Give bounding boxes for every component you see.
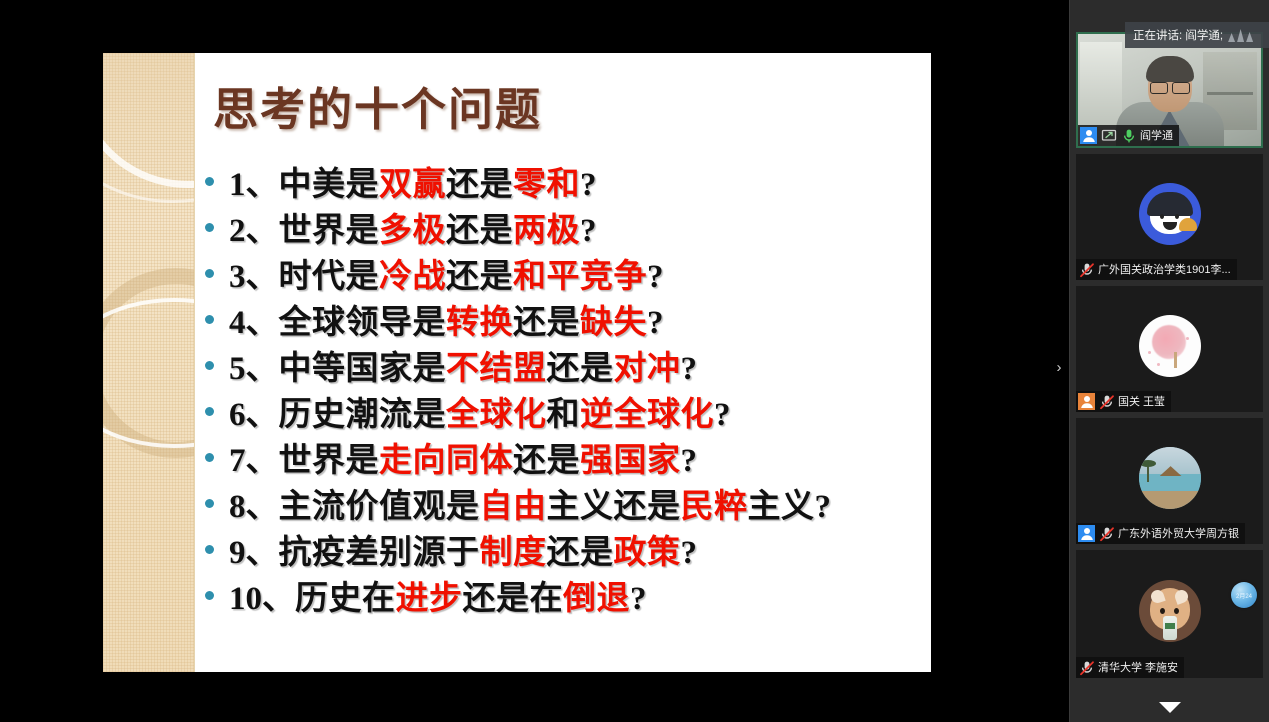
slide-bullet-number: 4、 xyxy=(229,305,279,341)
participant-tile[interactable]: 广东外语外贸大学周方银 xyxy=(1076,418,1263,544)
slide-bullet-item: 5、中等国家是不结盟还是对冲? xyxy=(205,342,927,388)
slide-text-highlight: 走向同体 xyxy=(379,443,513,479)
date-badge: 2月24 xyxy=(1231,582,1257,608)
shared-screen-stage: 思考的十个问题 1、中美是双赢还是零和?2、世界是多极还是两极?3、时代是冷战还… xyxy=(0,0,1069,722)
participant-tile[interactable]: 阎学通 xyxy=(1076,32,1263,148)
bullet-point-icon xyxy=(205,223,214,232)
slide-text-plain: 主流价值观是 xyxy=(279,489,480,525)
slide-bullet-number: 6、 xyxy=(229,397,279,433)
slide-text-highlight: 逆全球化 xyxy=(580,397,714,433)
slide-content: 思考的十个问题 1、中美是双赢还是零和?2、世界是多极还是两极?3、时代是冷战还… xyxy=(195,53,931,672)
participant-status-bar: 广东外语外贸大学周方银 xyxy=(1076,523,1245,544)
slide-text-plain: ? xyxy=(630,581,647,617)
slide-bullet-text: 2、世界是多极还是两极? xyxy=(229,203,597,251)
slide-bullet-text: 3、时代是冷战还是和平竞争? xyxy=(229,249,664,297)
slide-text-highlight: 全球化 xyxy=(446,397,547,433)
slide-text-highlight: 转换 xyxy=(446,305,513,341)
slide-text-highlight: 民粹 xyxy=(681,489,748,525)
participant-avatar xyxy=(1139,580,1201,642)
participant-status-bar: 广外国关政治学类1901李... xyxy=(1076,259,1237,280)
microphone-muted-icon xyxy=(1078,659,1095,676)
slide-text-highlight: 双赢 xyxy=(379,167,446,203)
participant-tile[interactable]: 国关 王莹 xyxy=(1076,286,1263,412)
slide-bullet-text: 7、世界是走向同体还是强国家? xyxy=(229,433,698,481)
slide-bullet-item: 10、历史在进步还是在倒退? xyxy=(205,572,927,618)
audio-level-icon xyxy=(1228,28,1253,42)
participant-avatar xyxy=(1139,183,1201,245)
slide-bullet-number: 9、 xyxy=(229,535,279,571)
slide-text-plain: 还是 xyxy=(446,259,513,295)
slide-text-plain: ? xyxy=(681,351,698,387)
slide-text-plain: 世界是 xyxy=(279,213,380,249)
avatar-icon-orange xyxy=(1078,393,1095,410)
slide-text-plain: 还是 xyxy=(547,351,614,387)
slide-bullet-text: 5、中等国家是不结盟还是对冲? xyxy=(229,341,698,389)
slide-text-highlight: 强国家 xyxy=(580,443,681,479)
slide-text-plain: 主义? xyxy=(748,489,832,525)
slide-text-plain: ? xyxy=(714,397,731,433)
collapse-video-panel-button[interactable]: › xyxy=(1050,355,1068,381)
bullet-point-icon xyxy=(205,545,214,554)
slide-text-plain: 还是 xyxy=(547,535,614,571)
slide-text-plain: 还是 xyxy=(513,305,580,341)
participant-name: 广外国关政治学类1901李... xyxy=(1098,263,1231,277)
slide-bullet-item: 1、中美是双赢还是零和? xyxy=(205,158,927,204)
slide-text-highlight: 不结盟 xyxy=(446,351,547,387)
bullet-point-icon xyxy=(205,499,214,508)
scroll-down-button[interactable] xyxy=(1070,696,1269,718)
slide-text-plain: 和 xyxy=(547,397,581,433)
slide-text-highlight: 政策 xyxy=(614,535,681,571)
slide-bullet-number: 1、 xyxy=(229,167,279,203)
avatar-hair xyxy=(1147,192,1193,216)
slide-text-plain: ? xyxy=(681,535,698,571)
slide-decorative-band xyxy=(103,53,195,672)
slide-bullet-item: 3、时代是冷战还是和平竞争? xyxy=(205,250,927,296)
slide-bullet-item: 6、历史潮流是全球化和逆全球化? xyxy=(205,388,927,434)
slide-bullet-number: 5、 xyxy=(229,351,279,387)
slide-text-plain: 主义还是 xyxy=(547,489,681,525)
glasses-icon xyxy=(1150,82,1190,92)
avatar-bottle xyxy=(1163,616,1177,640)
active-speaker-banner: 正在讲话: 阎学通; xyxy=(1125,22,1269,48)
bullet-point-icon xyxy=(205,361,214,370)
slide-bullet-text: 4、全球领导是转换还是缺失? xyxy=(229,295,664,343)
participant-status-bar: 阎学通 xyxy=(1078,125,1179,146)
participant-name: 阎学通 xyxy=(1140,129,1173,143)
slide-text-plain: ? xyxy=(647,305,664,341)
screen-share-icon xyxy=(1100,127,1117,144)
slide-bullet-text: 1、中美是双赢还是零和? xyxy=(229,157,597,205)
slide-text-plain: ? xyxy=(580,213,597,249)
slide-text-highlight: 倒退 xyxy=(563,581,630,617)
participant-name: 广东外语外贸大学周方银 xyxy=(1118,527,1239,541)
slide-bullet-text: 8、主流价值观是自由主义还是民粹主义? xyxy=(229,479,832,527)
slide-bullet-number: 7、 xyxy=(229,443,279,479)
bullet-point-icon xyxy=(205,407,214,416)
slide-bullet-number: 2、 xyxy=(229,213,279,249)
avatar-sandwich xyxy=(1179,218,1197,231)
slide-bullet-number: 10、 xyxy=(229,581,295,617)
slide-text-plain: ? xyxy=(580,167,597,203)
slide-text-highlight: 制度 xyxy=(480,535,547,571)
slide-text-plain: 时代是 xyxy=(279,259,380,295)
participant-name: 清华大学 李施安 xyxy=(1098,661,1178,675)
participant-tile[interactable]: 2月24 清华大学 李施安 xyxy=(1076,550,1263,678)
slide-text-highlight: 两极 xyxy=(513,213,580,249)
slide-bullet-text: 9、抗疫差别源于制度还是政策? xyxy=(229,525,698,573)
slide-title: 思考的十个问题 xyxy=(213,73,542,138)
participant-name: 国关 王莹 xyxy=(1118,395,1165,409)
slide-text-highlight: 零和 xyxy=(513,167,580,203)
presentation-slide: 思考的十个问题 1、中美是双赢还是零和?2、世界是多极还是两极?3、时代是冷战还… xyxy=(103,53,931,672)
avatar-petal xyxy=(1148,351,1151,354)
slide-bullet-item: 8、主流价值观是自由主义还是民粹主义? xyxy=(205,480,927,526)
participant-video-panel: 正在讲话: 阎学通; xyxy=(1069,0,1269,722)
slide-text-plain: 还是 xyxy=(446,213,513,249)
avatar-icon xyxy=(1078,525,1095,542)
avatar-sand xyxy=(1139,491,1201,510)
slide-text-highlight: 和平竞争 xyxy=(513,259,647,295)
avatar-petal xyxy=(1186,337,1189,340)
slide-text-highlight: 自由 xyxy=(480,489,547,525)
slide-text-plain: 还是 xyxy=(446,167,513,203)
slide-text-highlight: 进步 xyxy=(396,581,463,617)
avatar-icon xyxy=(1080,127,1097,144)
slide-text-highlight: 冷战 xyxy=(379,259,446,295)
participant-status-bar: 国关 王莹 xyxy=(1076,391,1171,412)
slide-text-highlight: 对冲 xyxy=(614,351,681,387)
microphone-muted-icon xyxy=(1078,261,1095,278)
bullet-point-icon xyxy=(205,453,214,462)
participant-avatar xyxy=(1139,447,1201,509)
microphone-muted-icon xyxy=(1098,393,1115,410)
slide-text-plain: 全球领导是 xyxy=(279,305,447,341)
slide-bullet-item: 2、世界是多极还是两极? xyxy=(205,204,927,250)
avatar-petal xyxy=(1157,363,1160,366)
slide-text-plain: ? xyxy=(681,443,698,479)
slide-text-plain: ? xyxy=(647,259,664,295)
bullet-point-icon xyxy=(205,269,214,278)
decorative-arc-icon xyxy=(103,298,195,448)
bullet-point-icon xyxy=(205,315,214,324)
participant-tile[interactable]: 广外国关政治学类1901李... xyxy=(1076,154,1263,280)
slide-text-plain: 世界是 xyxy=(279,443,380,479)
slide-bullet-item: 7、世界是走向同体还是强国家? xyxy=(205,434,927,480)
avatar-blossom xyxy=(1152,325,1186,359)
bullet-point-icon xyxy=(205,591,214,600)
participant-avatar xyxy=(1139,315,1201,377)
slide-bullet-item: 4、全球领导是转换还是缺失? xyxy=(205,296,927,342)
avatar-trunk xyxy=(1174,352,1177,368)
slide-text-plain: 还是在 xyxy=(463,581,564,617)
slide-bullet-item: 9、抗疫差别源于制度还是政策? xyxy=(205,526,927,572)
bullet-point-icon xyxy=(205,177,214,186)
slide-text-plain: 中等国家是 xyxy=(279,351,447,387)
slide-bullet-text: 10、历史在进步还是在倒退? xyxy=(229,571,647,619)
person-hair xyxy=(1146,56,1194,82)
decorative-arc-icon xyxy=(103,53,195,203)
participant-status-bar: 清华大学 李施安 xyxy=(1076,657,1184,678)
slide-text-plain: 还是 xyxy=(513,443,580,479)
avatar-eye xyxy=(1175,214,1179,219)
slide-text-plain: 历史在 xyxy=(295,581,396,617)
slide-bullet-text: 6、历史潮流是全球化和逆全球化? xyxy=(229,387,731,435)
meeting-screen-share-window: 思考的十个问题 1、中美是双赢还是零和?2、世界是多极还是两极?3、时代是冷战还… xyxy=(0,0,1269,722)
slide-bullet-number: 3、 xyxy=(229,259,279,295)
slide-text-plain: 中美是 xyxy=(279,167,380,203)
slide-bullet-list: 1、中美是双赢还是零和?2、世界是多极还是两极?3、时代是冷战还是和平竞争?4、… xyxy=(205,158,927,618)
microphone-on-icon xyxy=(1120,127,1137,144)
slide-text-plain: 历史潮流是 xyxy=(279,397,447,433)
microphone-muted-icon xyxy=(1098,525,1115,542)
avatar-palm xyxy=(1147,464,1149,482)
slide-text-highlight: 多极 xyxy=(379,213,446,249)
slide-bullet-number: 8、 xyxy=(229,489,279,525)
active-speaker-label: 正在讲话: 阎学通; xyxy=(1133,27,1223,43)
slide-text-highlight: 缺失 xyxy=(580,305,647,341)
slide-text-plain: 抗疫差别源于 xyxy=(279,535,480,571)
